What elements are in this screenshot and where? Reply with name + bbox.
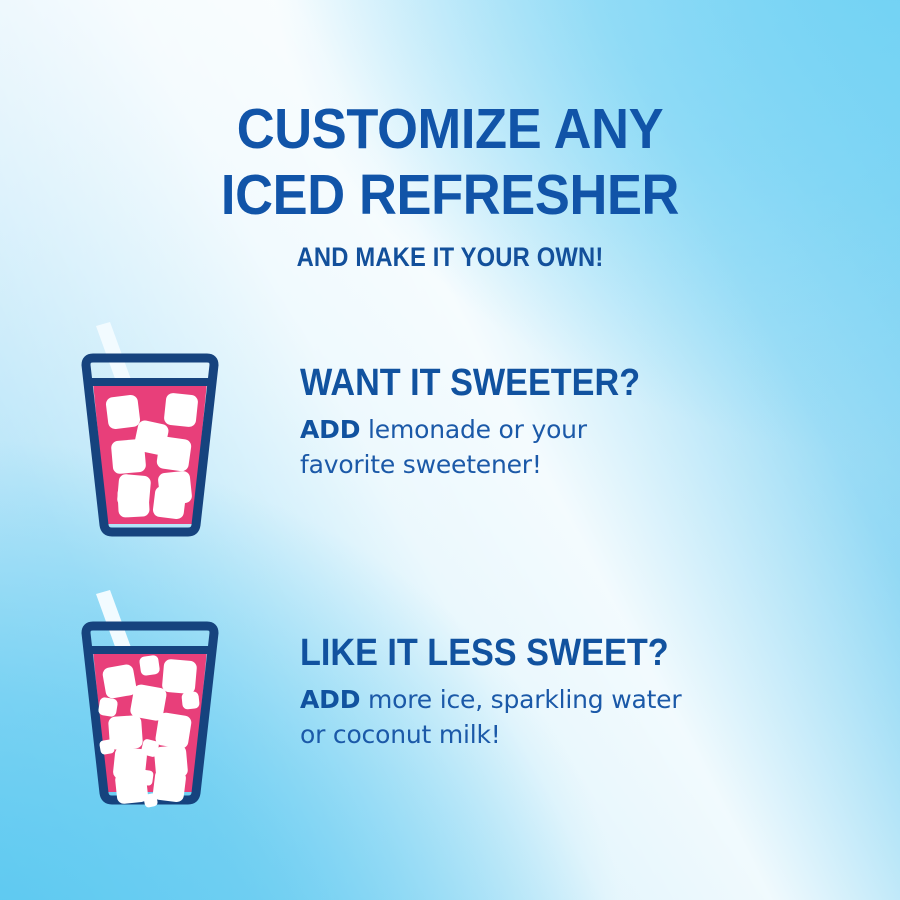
tip-title-want-it-sweeter: WANT IT SWEETER? <box>300 362 840 405</box>
tip-text-block-2: LIKE IT LESS SWEET? ADD more ice, sparkl… <box>300 586 900 752</box>
headline-line-1: CUSTOMIZE ANY <box>36 96 864 162</box>
headline-line-2: ICED REFRESHER <box>36 162 864 228</box>
tip-lead-label: ADD <box>300 685 360 714</box>
tip-row-want-it-sweeter: WANT IT SWEETER? ADD lemonade or your fa… <box>0 318 900 550</box>
ice-cube-small <box>181 691 200 710</box>
tip-body-text-1: lemonade or your <box>368 415 587 444</box>
tip-text-block-1: WANT IT SWEETER? ADD lemonade or your fa… <box>300 318 900 482</box>
ice-cube <box>162 659 198 695</box>
ice-cube <box>152 768 187 803</box>
tip-body-text-1: more ice, sparkling water <box>368 685 681 714</box>
ice-cube-small <box>99 739 115 755</box>
ice-cube <box>115 770 149 804</box>
poster-canvas: CUSTOMIZE ANY ICED REFRESHER AND MAKE IT… <box>0 0 900 900</box>
ice-cube-small <box>98 697 119 718</box>
tip-body-want-it-sweeter: ADD lemonade or your favorite sweetener! <box>300 413 800 482</box>
ice-cube <box>156 436 192 472</box>
tip-illustration-container-1 <box>0 318 300 550</box>
tip-title-like-it-less-sweet: LIKE IT LESS SWEET? <box>300 632 840 675</box>
iced-drink-glass-icon <box>70 320 230 550</box>
header-block: CUSTOMIZE ANY ICED REFRESHER AND MAKE IT… <box>0 96 900 273</box>
page-subtitle: AND MAKE IT YOUR OWN! <box>54 242 846 273</box>
iced-drink-glass-extra-ice-icon <box>70 588 230 818</box>
ice-cube-small <box>139 655 160 676</box>
tip-body-line-2: favorite sweetener! <box>300 448 800 483</box>
tip-illustration-container-2 <box>0 586 300 818</box>
ice-cube <box>117 485 150 518</box>
ice-cube <box>163 392 198 427</box>
tip-body-line-1: ADD more ice, sparkling water <box>300 683 800 718</box>
tip-body-line-1: ADD lemonade or your <box>300 413 800 448</box>
ice-cube <box>105 394 141 430</box>
poster-content: CUSTOMIZE ANY ICED REFRESHER AND MAKE IT… <box>0 0 900 900</box>
tip-body-like-it-less-sweet: ADD more ice, sparkling water or coconut… <box>300 683 800 752</box>
ice-cube <box>102 663 138 699</box>
tip-lead-label: ADD <box>300 415 360 444</box>
ice-cube <box>111 439 147 475</box>
tip-row-like-it-less-sweet: LIKE IT LESS SWEET? ADD more ice, sparkl… <box>0 586 900 818</box>
page-title: CUSTOMIZE ANY ICED REFRESHER <box>36 96 864 228</box>
ice-cube <box>152 485 187 520</box>
ice-cube <box>155 712 193 750</box>
tip-body-line-2: or coconut milk! <box>300 718 800 753</box>
